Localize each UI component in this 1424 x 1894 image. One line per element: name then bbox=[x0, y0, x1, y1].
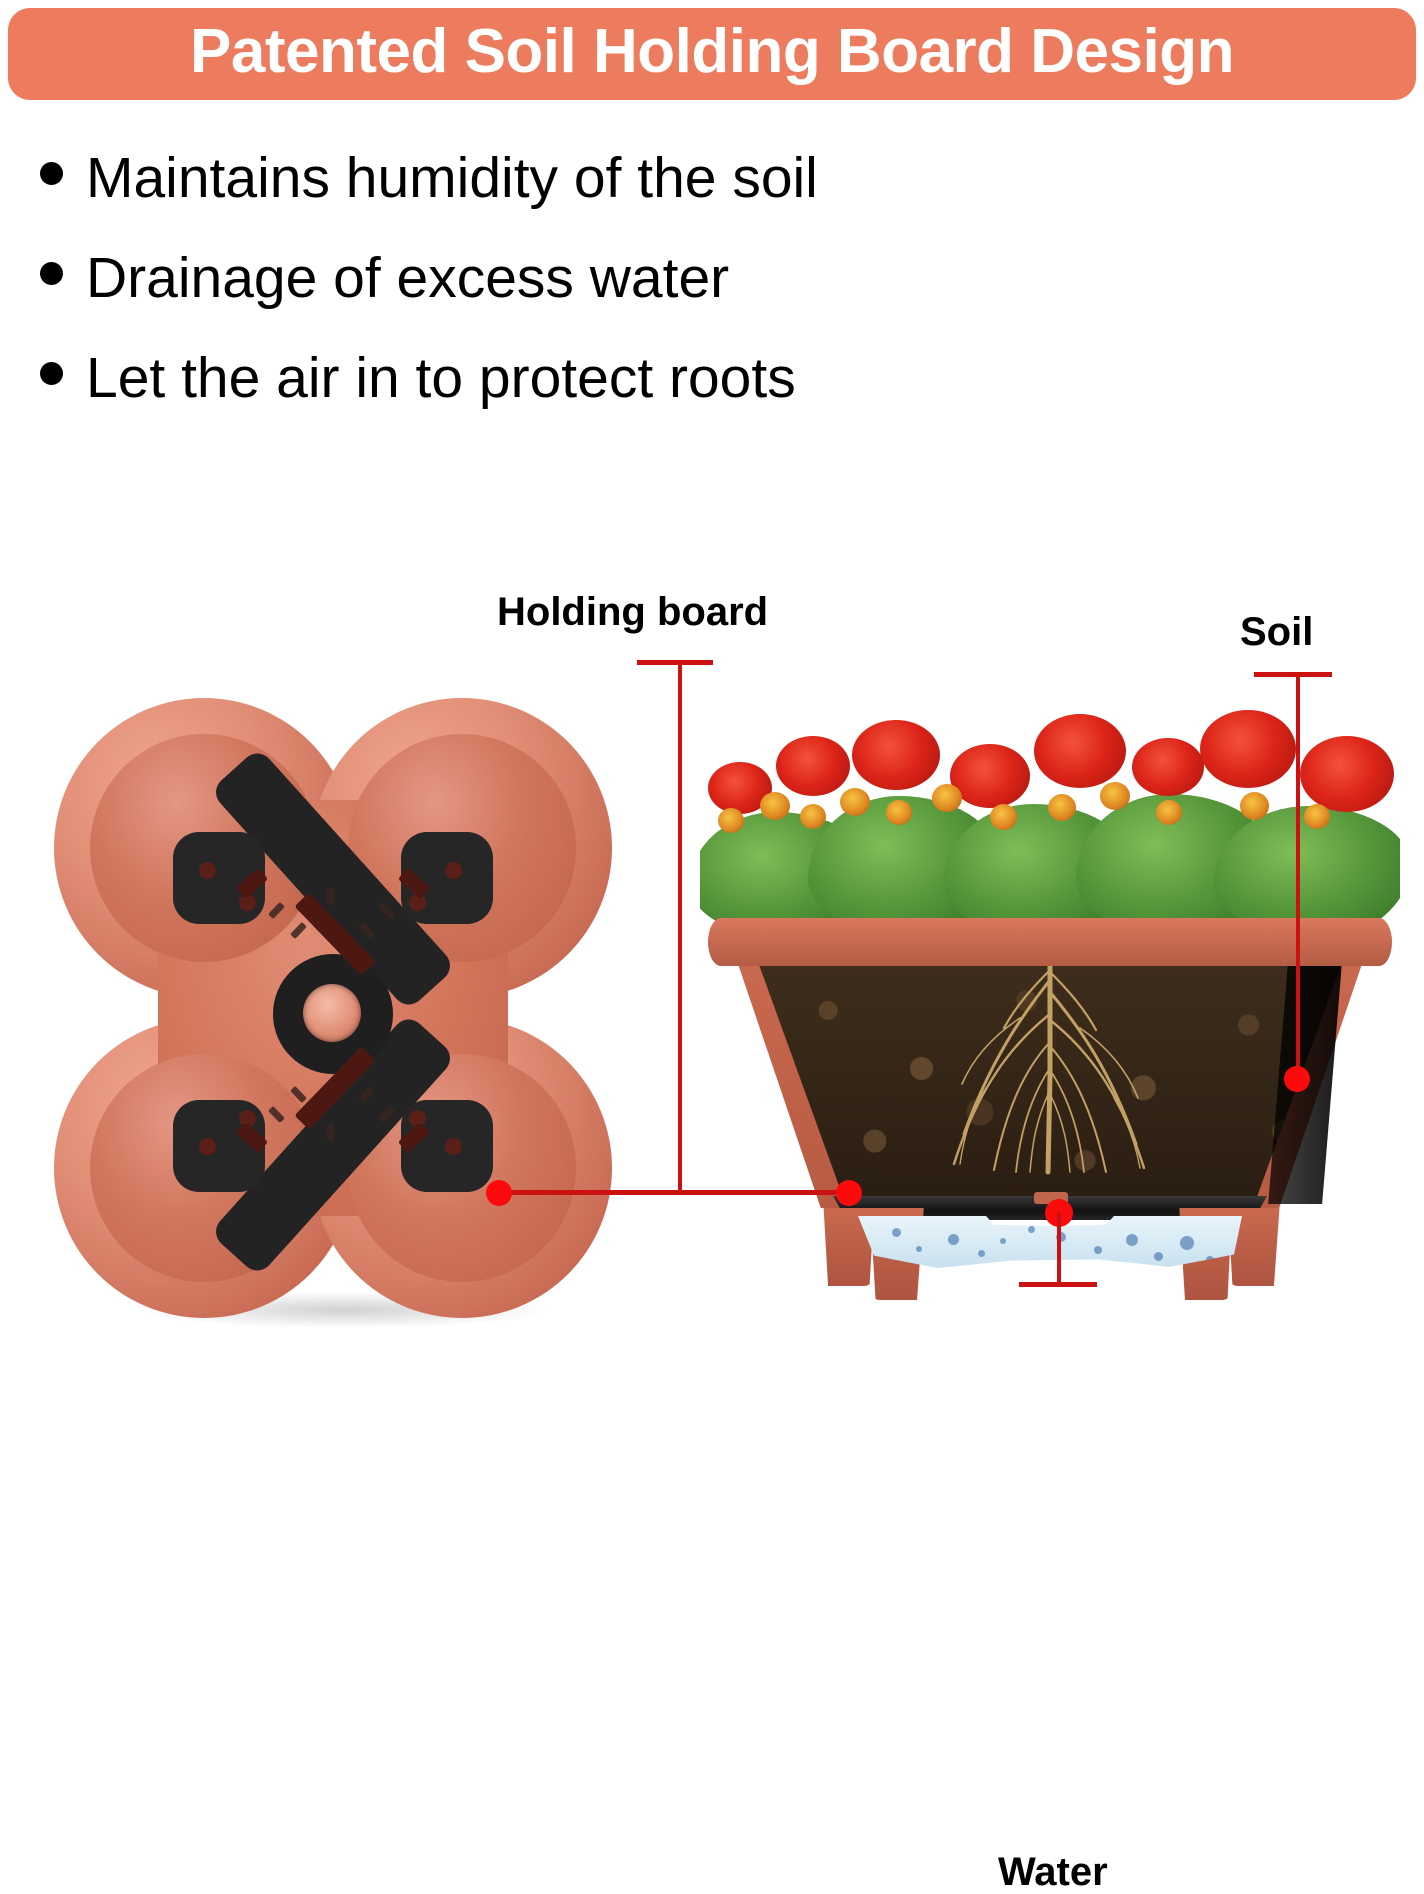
flower-bloom bbox=[1300, 736, 1394, 812]
flower-bud bbox=[932, 784, 962, 812]
flower-bud bbox=[1048, 794, 1076, 821]
product-diagram: Holding board Soil Water bbox=[0, 560, 1424, 1368]
bullet-icon bbox=[40, 162, 63, 185]
header-banner: Patented Soil Holding Board Design bbox=[8, 8, 1416, 100]
root-system-icon bbox=[758, 958, 1342, 1208]
water-bubble bbox=[1028, 1226, 1035, 1233]
water-bubble bbox=[1094, 1246, 1102, 1254]
water-bubble bbox=[1126, 1234, 1138, 1246]
flower-bud bbox=[718, 808, 744, 833]
water-bubble bbox=[978, 1250, 985, 1257]
planter-top-view-image bbox=[46, 688, 620, 1340]
board-hole bbox=[199, 1138, 216, 1155]
bullet-icon bbox=[40, 362, 63, 385]
board-hole bbox=[199, 862, 216, 879]
board-vent bbox=[290, 1086, 307, 1103]
water-bubble bbox=[1180, 1236, 1194, 1250]
drain-hole bbox=[303, 984, 361, 1042]
callout-connector-holding-board bbox=[498, 1190, 850, 1195]
list-item: Let the air in to protect roots bbox=[40, 350, 1140, 422]
flower-bloom bbox=[852, 720, 940, 790]
flower-bud bbox=[990, 804, 1017, 830]
water-bubble bbox=[1000, 1238, 1006, 1244]
flower-bud bbox=[800, 804, 826, 829]
water-bubble bbox=[948, 1234, 959, 1245]
feature-text: Let the air in to protect roots bbox=[86, 350, 796, 407]
callout-crossbar-soil bbox=[1254, 672, 1332, 677]
feature-list: Maintains humidity of the soil Drainage … bbox=[40, 150, 1140, 450]
callout-label-holding-board: Holding board bbox=[497, 592, 768, 632]
pot-rim bbox=[708, 918, 1392, 966]
callout-marker-board-section bbox=[836, 1180, 862, 1206]
board-vent bbox=[290, 922, 307, 939]
water-bubble bbox=[916, 1246, 922, 1252]
board-vent bbox=[268, 1106, 285, 1123]
callout-crossbar-holding-board bbox=[637, 660, 713, 665]
flower-bud bbox=[840, 788, 870, 816]
flower-bloom bbox=[776, 736, 850, 796]
callout-label-water: Water bbox=[998, 1852, 1108, 1892]
callout-marker-board-top-view bbox=[486, 1180, 512, 1206]
board-vent bbox=[327, 1124, 334, 1141]
list-item: Maintains humidity of the soil bbox=[40, 150, 1140, 222]
flower-bloom bbox=[1132, 738, 1204, 796]
board-hole bbox=[445, 1138, 462, 1155]
board-vent bbox=[268, 902, 285, 919]
feature-text: Maintains humidity of the soil bbox=[86, 150, 818, 207]
callout-label-soil: Soil bbox=[1240, 612, 1313, 652]
flower-bud bbox=[1240, 792, 1269, 820]
water-bubble bbox=[1154, 1252, 1163, 1261]
callout-crossbar-water bbox=[1019, 1282, 1097, 1287]
board-vent bbox=[327, 888, 334, 905]
flower-bud bbox=[1156, 800, 1182, 825]
flower-bloom bbox=[950, 744, 1030, 808]
callout-stem-holding-board bbox=[678, 660, 682, 1192]
water-bubble bbox=[892, 1228, 901, 1237]
feature-text: Drainage of excess water bbox=[86, 250, 729, 307]
flower-bud bbox=[1304, 804, 1330, 829]
plant-foliage bbox=[700, 700, 1400, 938]
flower-bud bbox=[760, 792, 790, 820]
list-item: Drainage of excess water bbox=[40, 250, 1140, 322]
callout-stem-soil bbox=[1296, 672, 1300, 1080]
bullet-icon bbox=[40, 262, 63, 285]
flower-bloom bbox=[1034, 714, 1126, 788]
flower-bud bbox=[886, 800, 912, 825]
board-hole bbox=[445, 862, 462, 879]
page-title: Patented Soil Holding Board Design bbox=[190, 21, 1234, 87]
flower-bloom bbox=[1200, 710, 1296, 788]
flower-bud bbox=[1100, 782, 1130, 810]
callout-marker-soil bbox=[1284, 1066, 1310, 1092]
soil-holding-board bbox=[177, 838, 489, 1186]
callout-stem-water bbox=[1057, 1212, 1061, 1285]
